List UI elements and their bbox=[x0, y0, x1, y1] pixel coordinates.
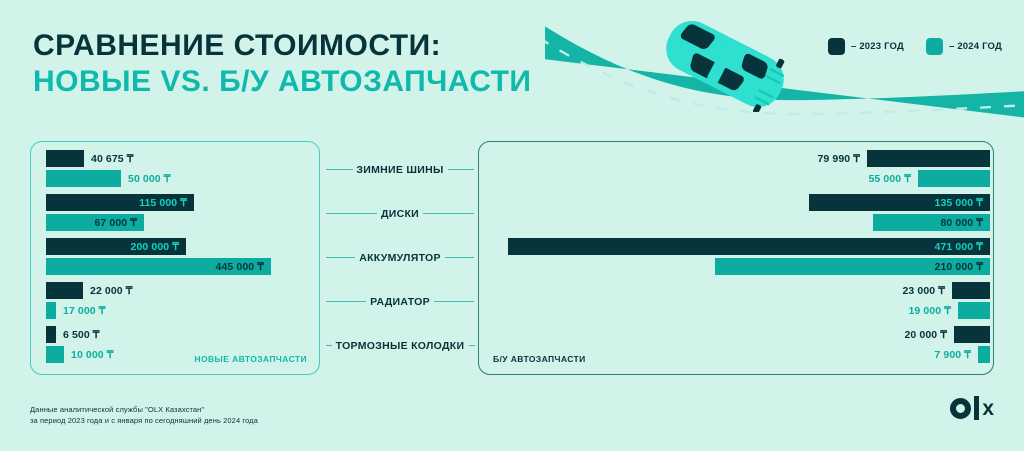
leader-line-right bbox=[423, 213, 474, 214]
bar-value-left-y23-1: 115 000 ₸ bbox=[139, 197, 187, 209]
bar-value-right-y23-4: 20 000 ₸ bbox=[904, 329, 947, 341]
leader-line-right bbox=[448, 169, 475, 170]
category-label-cell: ДИСКИ bbox=[320, 192, 480, 236]
title-line-1: СРАВНЕНИЕ СТОИМОСТИ: bbox=[33, 28, 653, 64]
bar-value-right-y24-2: 210 000 ₸ bbox=[935, 261, 983, 273]
category-label-cell: РАДИАТОР bbox=[320, 280, 480, 324]
bar-right-y23-3: 23 000 ₸ bbox=[952, 282, 990, 299]
bar-left-y23-0: 40 675 ₸ bbox=[46, 150, 84, 167]
bar-right-y23-2: 471 000 ₸ bbox=[508, 238, 990, 255]
category-label: ДИСКИ bbox=[381, 208, 419, 220]
chart-rows: 40 675 ₸50 000 ₸ЗИМНИЕ ШИНЫ79 990 ₸55 00… bbox=[0, 148, 1024, 368]
chart-row: 6 500 ₸10 000 ₸ТОРМОЗНЫЕ КОЛОДКИ20 000 ₸… bbox=[0, 324, 1024, 368]
legend-label-2023: – 2023 ГОД bbox=[851, 41, 904, 52]
bar-value-left-y24-1: 67 000 ₸ bbox=[94, 217, 137, 229]
bar-right-y24-0: 55 000 ₸ bbox=[918, 170, 990, 187]
bar-right-y23-1: 135 000 ₸ bbox=[809, 194, 990, 211]
bar-value-left-y24-4: 10 000 ₸ bbox=[71, 349, 114, 361]
title-line-2: НОВЫЕ VS. Б/У АВТОЗАПЧАСТИ bbox=[33, 64, 653, 100]
bar-right-y24-1: 80 000 ₸ bbox=[873, 214, 990, 231]
leader-line-left bbox=[326, 213, 377, 214]
footer-line-2: за период 2023 года и с января по сегодн… bbox=[30, 415, 258, 426]
bar-value-right-y24-1: 80 000 ₸ bbox=[940, 217, 983, 229]
bar-right-y23-4: 20 000 ₸ bbox=[954, 326, 990, 343]
olx-o-icon bbox=[950, 398, 971, 419]
chart-row: 22 000 ₸17 000 ₸РАДИАТОР23 000 ₸19 000 ₸ bbox=[0, 280, 1024, 324]
bar-value-left-y24-3: 17 000 ₸ bbox=[63, 305, 106, 317]
olx-x-letter: x bbox=[982, 398, 994, 419]
bar-left-y23-4: 6 500 ₸ bbox=[46, 326, 56, 343]
bar-value-right-y24-4: 7 900 ₸ bbox=[934, 349, 971, 361]
bar-left-y24-2: 445 000 ₸ bbox=[46, 258, 271, 275]
leader-line-left bbox=[326, 169, 353, 170]
bar-right-y24-2: 210 000 ₸ bbox=[715, 258, 990, 275]
page-title: СРАВНЕНИЕ СТОИМОСТИ: НОВЫЕ VS. Б/У АВТОЗ… bbox=[33, 28, 653, 100]
legend-label-2024: – 2024 ГОД bbox=[949, 41, 1002, 52]
row-right-bars: 79 990 ₸55 000 ₸ bbox=[492, 148, 990, 192]
category-label-cell: ТОРМОЗНЫЕ КОЛОДКИ bbox=[320, 324, 480, 368]
bar-value-right-y23-1: 135 000 ₸ bbox=[935, 197, 983, 209]
olx-divider-icon bbox=[974, 396, 979, 420]
row-right-bars: 471 000 ₸210 000 ₸ bbox=[492, 236, 990, 280]
legend-item-2023: – 2023 ГОД bbox=[828, 38, 904, 55]
bar-value-right-y23-3: 23 000 ₸ bbox=[902, 285, 945, 297]
row-left-bars: 22 000 ₸17 000 ₸ bbox=[46, 280, 314, 324]
bar-value-left-y24-0: 50 000 ₸ bbox=[128, 173, 171, 185]
row-left-bars: 200 000 ₸445 000 ₸ bbox=[46, 236, 314, 280]
category-label-cell: ЗИМНИЕ ШИНЫ bbox=[320, 148, 480, 192]
bar-value-right-y23-0: 79 990 ₸ bbox=[817, 153, 860, 165]
category-label: ТОРМОЗНЫЕ КОЛОДКИ bbox=[336, 340, 465, 352]
bar-left-y24-0: 50 000 ₸ bbox=[46, 170, 121, 187]
bar-right-y24-4: 7 900 ₸ bbox=[978, 346, 990, 363]
bar-left-y24-3: 17 000 ₸ bbox=[46, 302, 56, 319]
category-label: АККУМУЛЯТОР bbox=[359, 252, 441, 264]
chart-row: 115 000 ₸67 000 ₸ДИСКИ135 000 ₸80 000 ₸ bbox=[0, 192, 1024, 236]
row-left-bars: 40 675 ₸50 000 ₸ bbox=[46, 148, 314, 192]
footer-line-1: Данные аналитической службы "OLX Казахст… bbox=[30, 404, 258, 415]
bar-right-y24-3: 19 000 ₸ bbox=[958, 302, 990, 319]
car-icon bbox=[655, 16, 795, 112]
olx-logo: x bbox=[950, 396, 994, 420]
legend-item-2024: – 2024 ГОД bbox=[926, 38, 1002, 55]
row-left-bars: 115 000 ₸67 000 ₸ bbox=[46, 192, 314, 236]
row-left-bars: 6 500 ₸10 000 ₸ bbox=[46, 324, 314, 368]
infographic-canvas: СРАВНЕНИЕ СТОИМОСТИ: НОВЫЕ VS. Б/У АВТОЗ… bbox=[0, 0, 1024, 451]
chart-row: 40 675 ₸50 000 ₸ЗИМНИЕ ШИНЫ79 990 ₸55 00… bbox=[0, 148, 1024, 192]
legend-swatch-2023 bbox=[828, 38, 845, 55]
leader-line-right bbox=[434, 301, 474, 302]
leader-line-right bbox=[469, 345, 475, 346]
row-right-bars: 135 000 ₸80 000 ₸ bbox=[492, 192, 990, 236]
bar-value-left-y23-4: 6 500 ₸ bbox=[63, 329, 100, 341]
leader-line-left bbox=[326, 257, 355, 258]
legend-swatch-2024 bbox=[926, 38, 943, 55]
bar-left-y23-1: 115 000 ₸ bbox=[46, 194, 194, 211]
category-label: ЗИМНИЕ ШИНЫ bbox=[356, 164, 443, 176]
leader-line-left bbox=[326, 345, 332, 346]
bar-value-left-y23-0: 40 675 ₸ bbox=[91, 153, 134, 165]
bar-left-y23-3: 22 000 ₸ bbox=[46, 282, 83, 299]
category-label: РАДИАТОР bbox=[370, 296, 430, 308]
bar-value-left-y23-3: 22 000 ₸ bbox=[90, 285, 133, 297]
legend: – 2023 ГОД – 2024 ГОД bbox=[828, 38, 1002, 55]
bar-left-y23-2: 200 000 ₸ bbox=[46, 238, 186, 255]
bar-left-y24-1: 67 000 ₸ bbox=[46, 214, 144, 231]
bar-right-y23-0: 79 990 ₸ bbox=[867, 150, 990, 167]
category-label-cell: АККУМУЛЯТОР bbox=[320, 236, 480, 280]
row-right-bars: 23 000 ₸19 000 ₸ bbox=[492, 280, 990, 324]
footer-note: Данные аналитической службы "OLX Казахст… bbox=[30, 404, 258, 426]
bar-left-y24-4: 10 000 ₸ bbox=[46, 346, 64, 363]
leader-line-right bbox=[445, 257, 474, 258]
bar-value-left-y23-2: 200 000 ₸ bbox=[131, 241, 179, 253]
leader-line-left bbox=[326, 301, 366, 302]
bar-value-left-y24-2: 445 000 ₸ bbox=[216, 261, 264, 273]
bar-value-right-y24-0: 55 000 ₸ bbox=[868, 173, 911, 185]
bar-value-right-y24-3: 19 000 ₸ bbox=[908, 305, 951, 317]
chart-row: 200 000 ₸445 000 ₸АККУМУЛЯТОР471 000 ₸21… bbox=[0, 236, 1024, 280]
row-right-bars: 20 000 ₸7 900 ₸ bbox=[492, 324, 990, 368]
bar-value-right-y23-2: 471 000 ₸ bbox=[935, 241, 983, 253]
